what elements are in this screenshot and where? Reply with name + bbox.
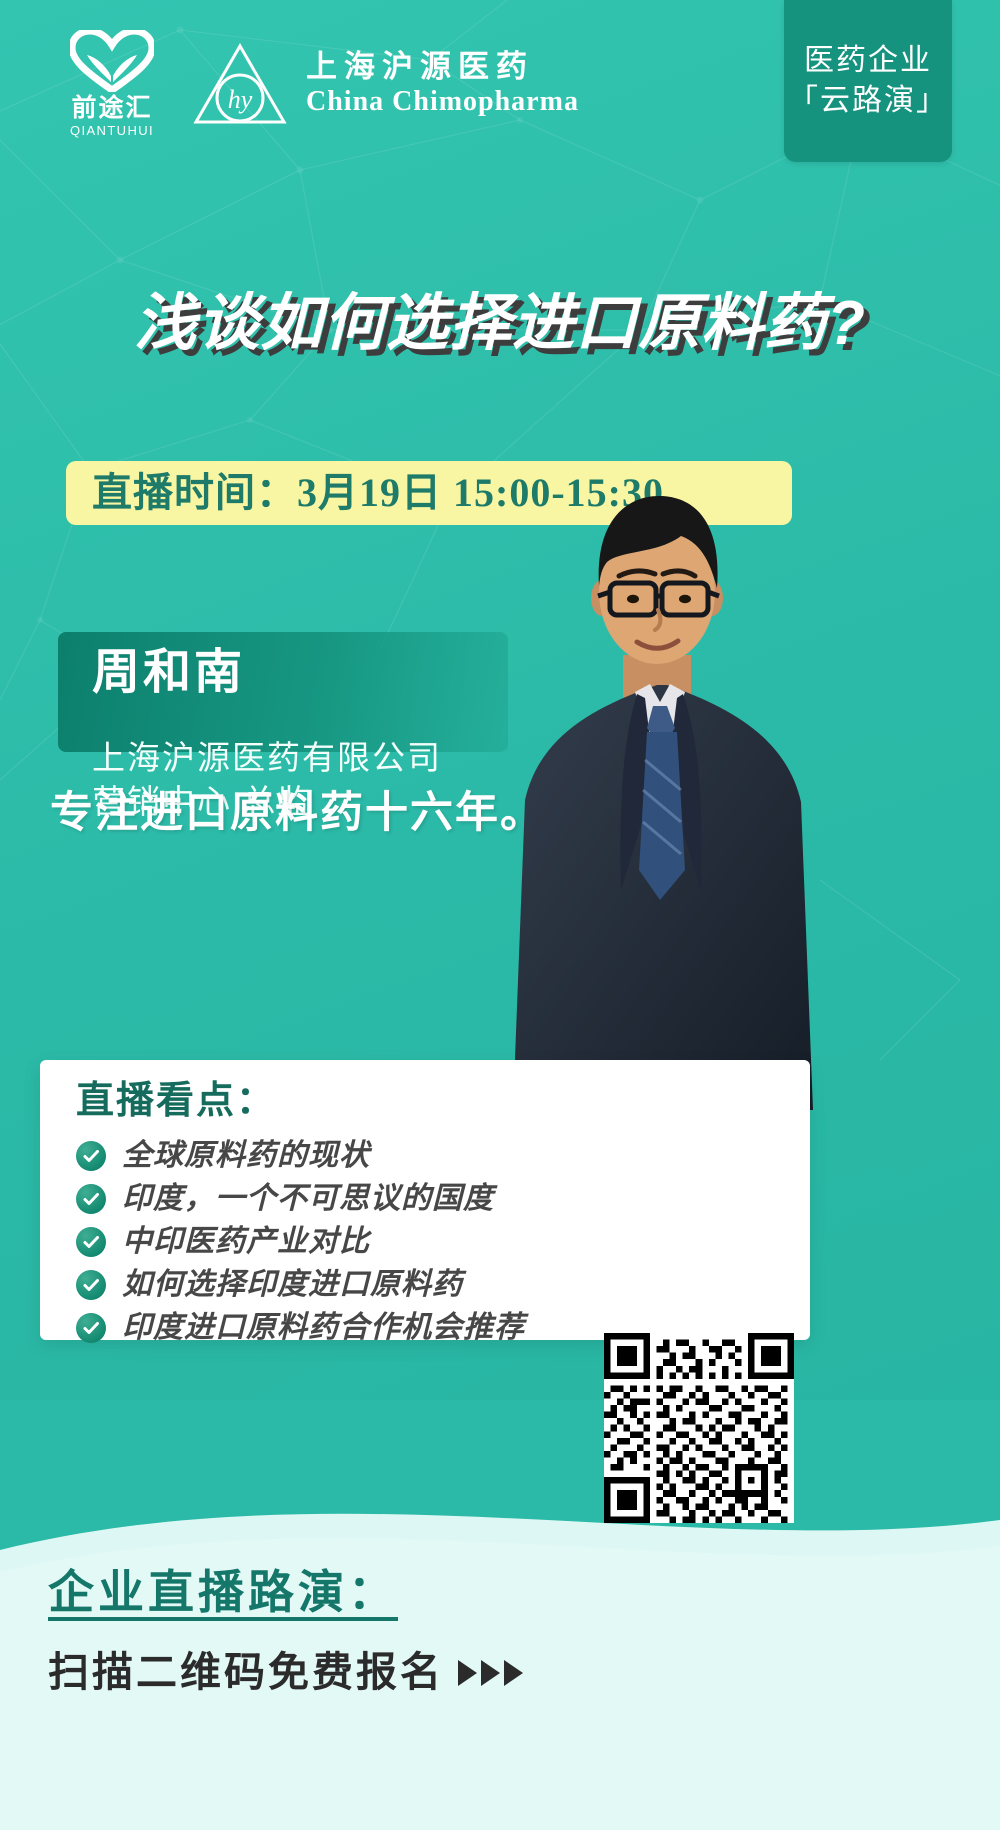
header: 前途汇 QIANTUHUI hy 上海沪源医药 China Chimopharm… [0,0,1000,190]
check-circle-icon [76,1227,106,1257]
category-badge: 医药企业 「云路演」 [784,0,952,162]
cta-subtitle: 扫描二维码免费报名 [48,1652,444,1693]
highlights-card: 直播看点： 全球原料药的现状 印度，一个不可思议的国度 中印医药产业对比 [40,1060,810,1340]
check-circle-icon [76,1184,106,1214]
check-circle-icon [76,1313,106,1343]
poster-root: 前途汇 QIANTUHUI hy 上海沪源医药 China Chimopharm… [0,0,1000,1830]
logo-qiantuhui: 前途汇 QIANTUHUI [58,30,166,137]
hy-triangle-logo-icon: hy [192,40,288,128]
check-circle-icon [76,1141,106,1171]
footer: 企业直播路演： 扫描二维码免费报名 [0,1490,1000,1830]
highlights-title: 直播看点： [76,1082,810,1120]
qr-code[interactable] [604,1333,794,1523]
check-circle-icon [76,1270,106,1300]
tagline: 专注进口原料药十六年。 [50,778,610,840]
logo-chimopharma: hy 上海沪源医药 China Chimopharma [192,40,579,128]
logo-row: 前途汇 QIANTUHUI hy 上海沪源医药 China Chimopharm… [58,30,579,137]
logo-chimopharma-text: 上海沪源医药 China Chimopharma [306,51,579,116]
list-item-label: 印度，一个不可思议的国度 [122,1184,494,1214]
speaker-company: 上海沪源医药有限公司 [92,738,562,782]
list-item: 中印医药产业对比 [76,1220,810,1263]
badge-line-2: 「云路演」 [788,86,948,116]
qr-code-icon [604,1333,794,1523]
list-item-label: 如何选择印度进口原料药 [122,1270,463,1300]
list-item: 印度，一个不可思议的国度 [76,1177,810,1220]
heart-leaf-logo-icon [70,30,154,92]
list-item: 全球原料药的现状 [76,1134,810,1177]
cta-title: 企业直播路演： [48,1570,398,1616]
highlights-list: 全球原料药的现状 印度，一个不可思议的国度 中印医药产业对比 如何选择印度进口原… [76,1134,810,1349]
list-item-label: 中印医药产业对比 [122,1227,370,1257]
logo-qiantuhui-cn: 前途汇 [71,96,152,121]
logo-chimopharma-cn: 上海沪源医药 [306,51,579,82]
list-item-label: 全球原料药的现状 [122,1141,370,1171]
cta-subtitle-row: 扫描二维码免费报名 [48,1652,523,1693]
logo-qiantuhui-en: QIANTUHUI [70,124,154,137]
logo-chimopharma-en: China Chimopharma [306,88,579,116]
speaker-card: 周和南 [58,632,508,752]
svg-text:hy: hy [228,85,253,114]
list-item-label: 印度进口原料药合作机会推荐 [122,1313,525,1343]
list-item: 如何选择印度进口原料药 [76,1263,810,1306]
badge-line-1: 医药企业 [804,46,932,76]
page-title: 浅谈如何选择进口原料药? [0,272,1000,362]
speaker-name: 周和南 [92,648,508,698]
triple-right-arrow-icon [458,1660,523,1686]
